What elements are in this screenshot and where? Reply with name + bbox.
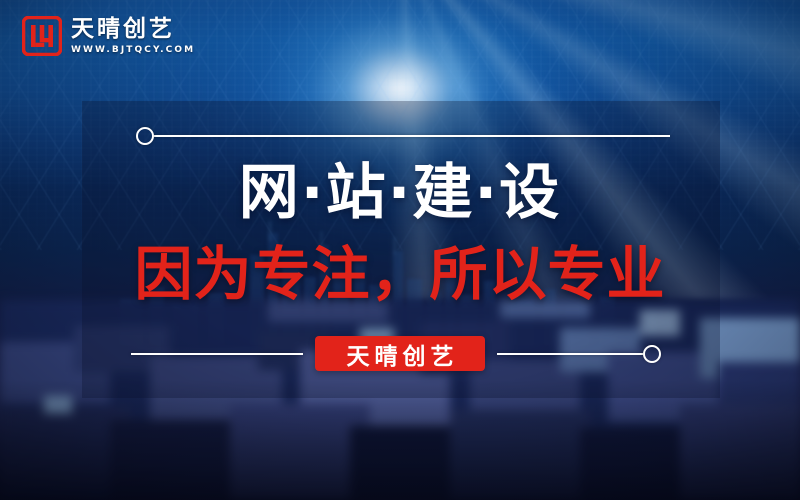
headline-main: 网·站·建·设 [0,163,800,223]
brand-logo[interactable]: 天晴创艺 WWW.BJTQCY.COM [22,16,195,56]
brand-badge: 天晴创艺 [315,336,485,371]
logo-website-url: WWW.BJTQCY.COM [71,46,195,55]
tianqing-chuangyi-logo-mark [22,16,62,56]
promo-banner: 天晴创艺 WWW.BJTQCY.COM 网·站·建·设 因为专注，所以专业 天晴… [0,0,800,500]
bottom-right-divider-rule [497,353,643,355]
headline-subtitle: 因为专注，所以专业 [0,245,800,303]
top-left-decor-circle [136,127,154,145]
background-cube-field [0,300,800,500]
top-divider-rule [154,135,670,137]
bottom-right-decor-circle [643,345,661,363]
logo-company-name: 天晴创艺 [71,18,195,41]
bottom-left-divider-rule [131,353,303,355]
